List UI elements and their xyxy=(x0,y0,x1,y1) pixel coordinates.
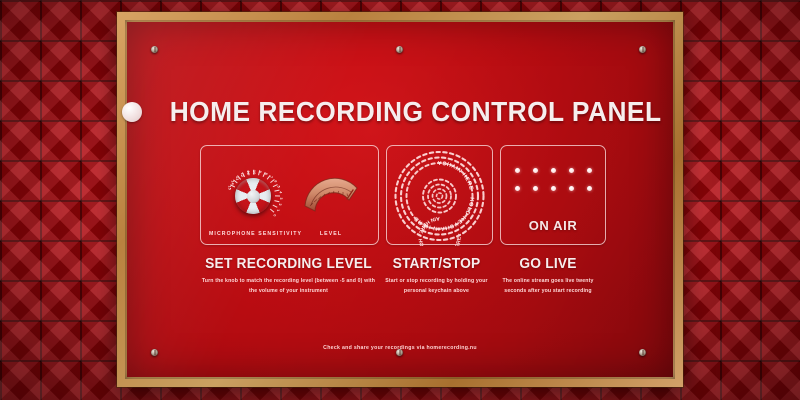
screenshot-root: HOME RECORDING CONTROL PANEL 15141312111… xyxy=(0,0,800,400)
knob-tick xyxy=(274,200,279,203)
lamp xyxy=(515,186,520,191)
knob-scale-number: 14 xyxy=(231,180,235,184)
knob-scale-number: 10 xyxy=(252,170,256,174)
screw-top-right xyxy=(639,46,646,53)
lamp xyxy=(533,168,538,173)
knob-dial[interactable] xyxy=(235,178,271,214)
knob-scale-number: 7 xyxy=(269,176,273,178)
knob-scale-number: 0 xyxy=(273,214,277,216)
meter-label: LEVEL xyxy=(301,231,361,237)
footer-note: Check and share your recordings via home… xyxy=(0,345,800,351)
knob-scale-number: 3 xyxy=(279,197,283,199)
record-dot-icon xyxy=(122,102,142,122)
knob-label: MICROPHONE SENSITIVITY xyxy=(209,231,299,237)
level-vu-meter xyxy=(301,170,361,212)
knob-scale-number: 1 xyxy=(276,209,280,211)
knob-scale-number: 8 xyxy=(264,173,268,175)
screw-top-left xyxy=(151,46,158,53)
lamp xyxy=(551,168,556,173)
lamp-row xyxy=(515,186,592,191)
knob-scale-number: 6 xyxy=(273,180,277,182)
panel-row: 1514131211109876543210 xyxy=(200,145,600,245)
screw-top-center xyxy=(396,46,403,53)
lamp xyxy=(551,186,556,191)
knob-scale-number: 11 xyxy=(246,171,250,175)
knob-scale-number: 12 xyxy=(240,173,244,177)
caption-title: START/STOP xyxy=(387,256,487,272)
lamp-row xyxy=(515,168,592,173)
caption-text: The online stream goes live twenty secon… xyxy=(496,277,600,296)
knob-scale-number: 15 xyxy=(228,186,232,190)
caption-set-recording-level: SET RECORDING LEVEL Turn the knob to mat… xyxy=(200,256,377,296)
lamp xyxy=(587,168,592,173)
vu-meter-svg xyxy=(301,170,361,212)
lamp xyxy=(587,186,592,191)
lamp xyxy=(533,186,538,191)
knob-tick xyxy=(270,209,275,213)
caption-title: GO LIVE xyxy=(499,256,598,272)
caption-title: SET RECORDING LEVEL xyxy=(204,256,372,272)
lamp xyxy=(569,168,574,173)
keychain-target-spiral[interactable]: HOLD KEYCHAIN HERE · HOLD KEYCHAIN HERE … xyxy=(387,146,492,246)
panel-start-stop[interactable]: HOLD KEYCHAIN HERE · HOLD KEYCHAIN HERE … xyxy=(386,145,493,245)
lamp xyxy=(515,168,520,173)
knob-scale-number: 13 xyxy=(235,176,239,180)
knob-scale-number: 9 xyxy=(258,171,262,173)
panel-set-recording-level[interactable]: 1514131211109876543210 xyxy=(200,145,379,245)
caption-text: Start or stop recording by holding your … xyxy=(384,277,489,296)
knob-scale-number: 5 xyxy=(276,186,280,188)
caption-text: Turn the knob to match the recording lev… xyxy=(200,277,377,296)
panel-go-live[interactable]: ON AIR xyxy=(500,145,606,245)
caption-go-live: GO LIVE The online stream goes live twen… xyxy=(496,256,600,296)
page-title-row: HOME RECORDING CONTROL PANEL xyxy=(0,96,800,128)
microphone-sensitivity-knob[interactable]: 1514131211109876543210 xyxy=(217,158,291,232)
knob-tick xyxy=(272,205,277,209)
on-air-indicator-label: ON AIR xyxy=(501,218,605,233)
page-title: HOME RECORDING CONTROL PANEL xyxy=(170,96,662,128)
lamp xyxy=(569,186,574,191)
caption-row: SET RECORDING LEVEL Turn the knob to mat… xyxy=(200,256,600,296)
spiral-svg: HOLD KEYCHAIN HERE · HOLD KEYCHAIN HERE … xyxy=(387,146,492,246)
on-air-lamp-grid xyxy=(501,168,605,191)
knob-scale-number: 4 xyxy=(278,191,282,193)
caption-start-stop: START/STOP Start or stop recording by ho… xyxy=(384,256,489,296)
knob-scale-number: 2 xyxy=(278,204,282,206)
